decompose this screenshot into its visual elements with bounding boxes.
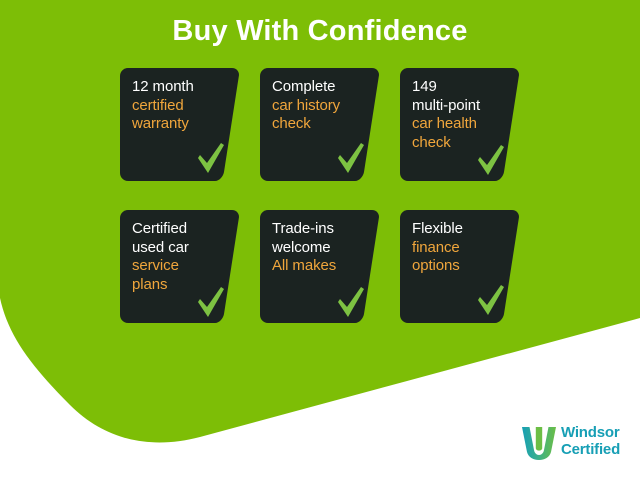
card-line: Certified: [132, 220, 238, 239]
check-icon: [476, 284, 506, 316]
feature-card-service-plans[interactable]: Certified used car service plans: [120, 210, 247, 323]
logo-wordmark: Windsor Certified: [561, 424, 633, 458]
card-line: 12 month: [132, 78, 238, 97]
card-line: All makes: [272, 257, 378, 276]
check-icon: [476, 144, 506, 176]
card-text-block: 12 month certified warranty: [132, 78, 238, 134]
feature-card-finance[interactable]: Flexible finance options: [400, 210, 527, 323]
check-icon: [196, 286, 226, 318]
card-line: certified: [132, 97, 238, 116]
card-line: warranty: [132, 115, 238, 134]
card-line: check: [272, 115, 378, 134]
card-line: welcome: [272, 239, 378, 258]
card-line: used car: [132, 239, 238, 258]
card-line: car health: [412, 115, 518, 134]
check-icon: [336, 142, 366, 174]
windsor-w-icon: [521, 426, 557, 460]
card-line: Trade-ins: [272, 220, 378, 239]
poster-canvas: Buy With Confidence 12 month certified w…: [0, 0, 640, 480]
feature-card-warranty[interactable]: 12 month certified warranty: [120, 68, 247, 181]
card-text-block: Trade-ins welcome All makes: [272, 220, 378, 276]
card-line: Complete: [272, 78, 378, 97]
card-text-block: Complete car history check: [272, 78, 378, 134]
card-text-block: 149 multi-point car health check: [412, 78, 518, 152]
card-line: service: [132, 257, 238, 276]
card-text-block: Flexible finance options: [412, 220, 518, 276]
feature-card-multi-point-check[interactable]: 149 multi-point car health check: [400, 68, 527, 181]
page-title: Buy With Confidence: [0, 14, 640, 48]
feature-card-history-check[interactable]: Complete car history check: [260, 68, 387, 181]
check-icon: [196, 142, 226, 174]
card-line: 149: [412, 78, 518, 97]
logo-line-2: Certified: [561, 441, 633, 458]
card-line: multi-point: [412, 97, 518, 116]
card-text-block: Certified used car service plans: [132, 220, 238, 294]
logo-line-1: Windsor: [561, 424, 633, 441]
check-icon: [336, 286, 366, 318]
card-line: options: [412, 257, 518, 276]
brand-logo[interactable]: Windsor Certified: [521, 424, 631, 466]
feature-card-trade-ins[interactable]: Trade-ins welcome All makes: [260, 210, 387, 323]
card-line: Flexible: [412, 220, 518, 239]
card-line: car history: [272, 97, 378, 116]
card-line: finance: [412, 239, 518, 258]
